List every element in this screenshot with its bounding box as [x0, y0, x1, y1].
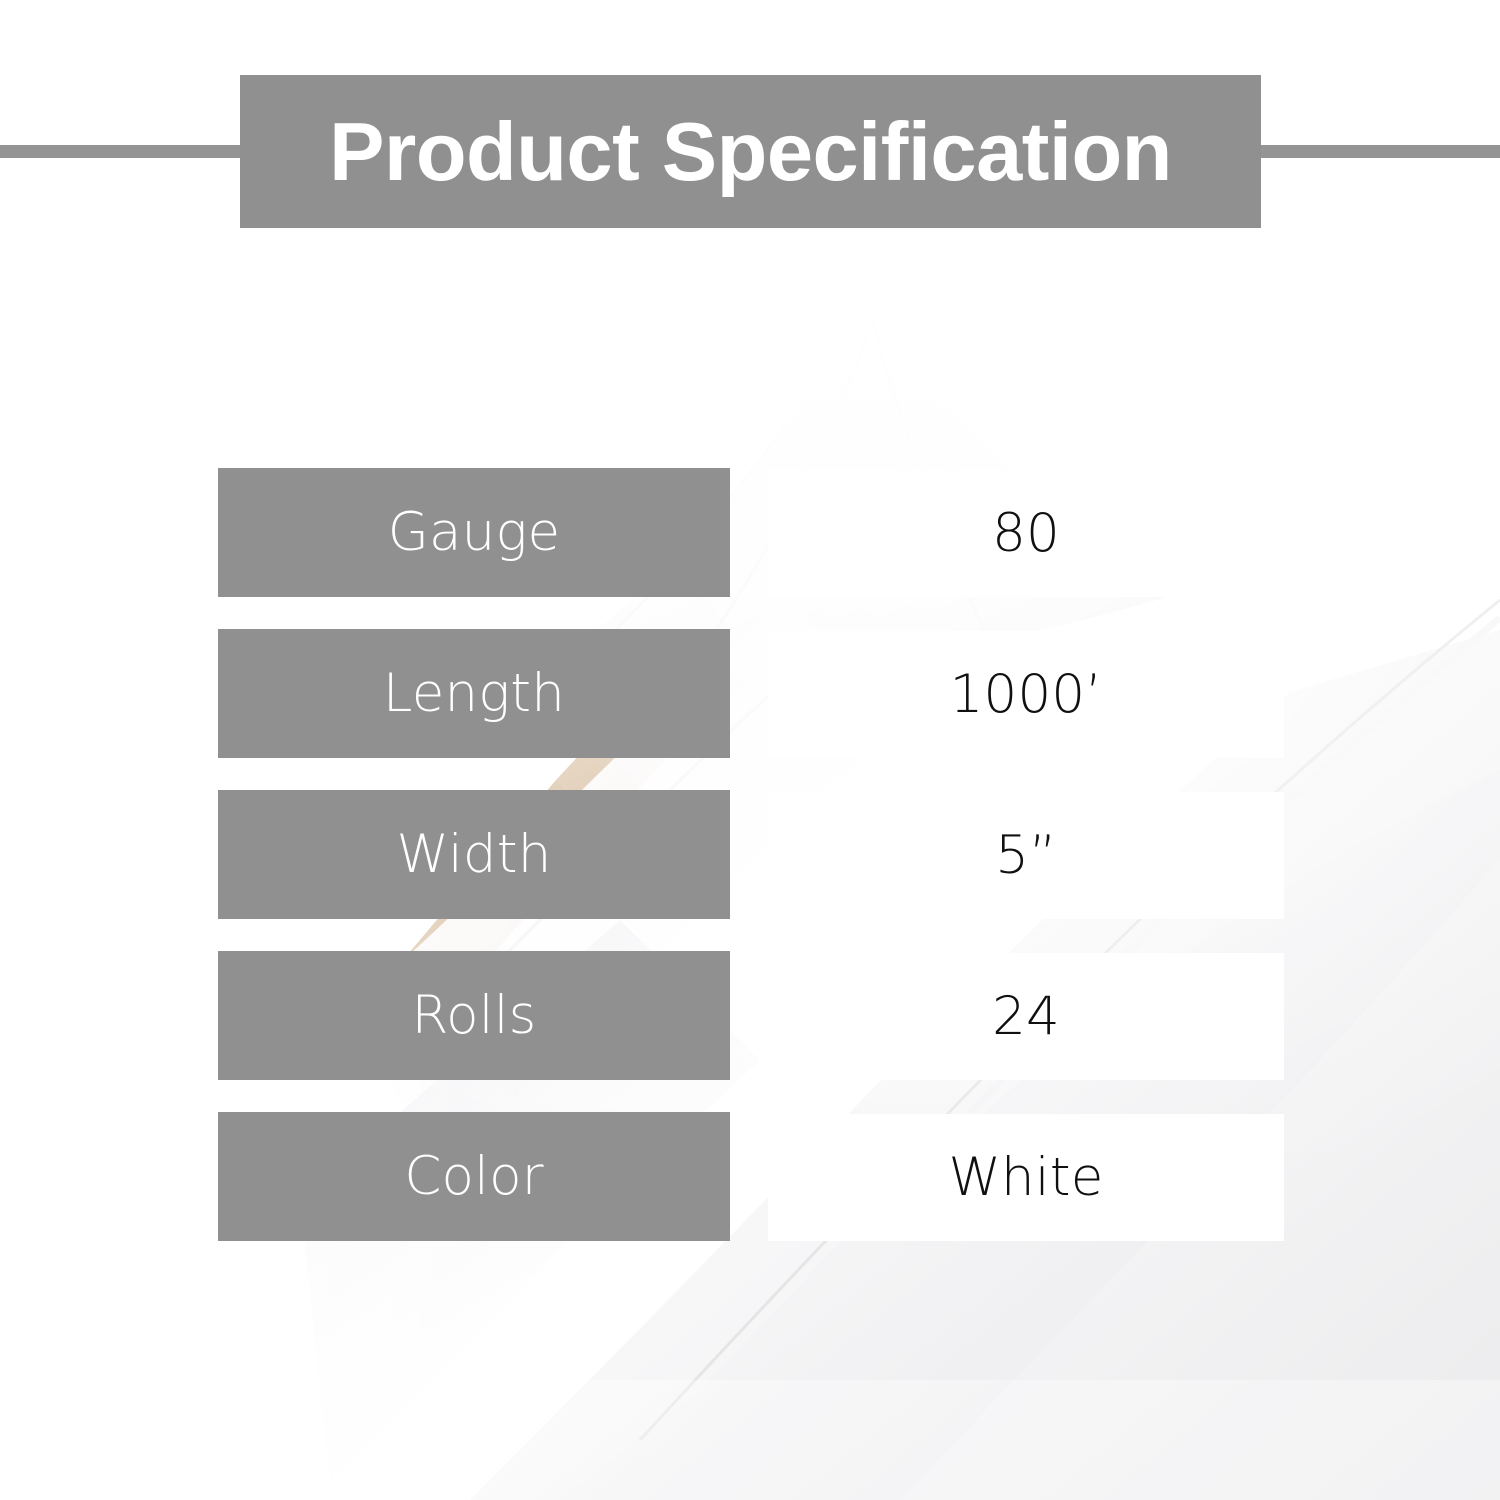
spec-label-cell-length: Length [218, 629, 730, 758]
spec-label-text: Gauge [388, 506, 561, 559]
header-banner: Product Specification [240, 75, 1261, 228]
spec-value-text: 80 [992, 507, 1060, 560]
header-rule-left [0, 145, 250, 158]
spec-value-text: 24 [992, 990, 1060, 1043]
spec-label-text: Length [383, 667, 565, 720]
table-row: Length 1000’ [218, 629, 1284, 758]
page-title: Product Specification [329, 110, 1172, 193]
spec-label-cell-gauge: Gauge [218, 468, 730, 597]
spec-value-cell-width: 5” [768, 792, 1284, 919]
spec-label-text: Width [397, 828, 552, 881]
table-row: Width 5” [218, 790, 1284, 919]
spec-label-cell-color: Color [218, 1112, 730, 1241]
spec-value-text: 5” [995, 829, 1057, 882]
table-row: Gauge 80 [218, 468, 1284, 597]
table-row: Color White [218, 1112, 1284, 1241]
spec-label-text: Color [404, 1150, 543, 1203]
spec-value-cell-gauge: 80 [768, 470, 1284, 597]
spec-value-cell-color: White [768, 1114, 1284, 1241]
specification-table: Gauge 80 Length 1000’ Width 5” Roll [218, 468, 1284, 1246]
spec-label-text: Rolls [412, 989, 537, 1042]
spec-label-cell-rolls: Rolls [218, 951, 730, 1080]
product-spec-infographic: Product Specification Gauge 80 Length 10… [0, 0, 1500, 1500]
spec-value-text: 1000’ [950, 668, 1103, 721]
header-rule-right [1251, 145, 1500, 158]
spec-value-text: White [948, 1151, 1103, 1204]
spec-value-cell-length: 1000’ [768, 631, 1284, 758]
spec-label-cell-width: Width [218, 790, 730, 919]
spec-value-cell-rolls: 24 [768, 953, 1284, 1080]
table-row: Rolls 24 [218, 951, 1284, 1080]
